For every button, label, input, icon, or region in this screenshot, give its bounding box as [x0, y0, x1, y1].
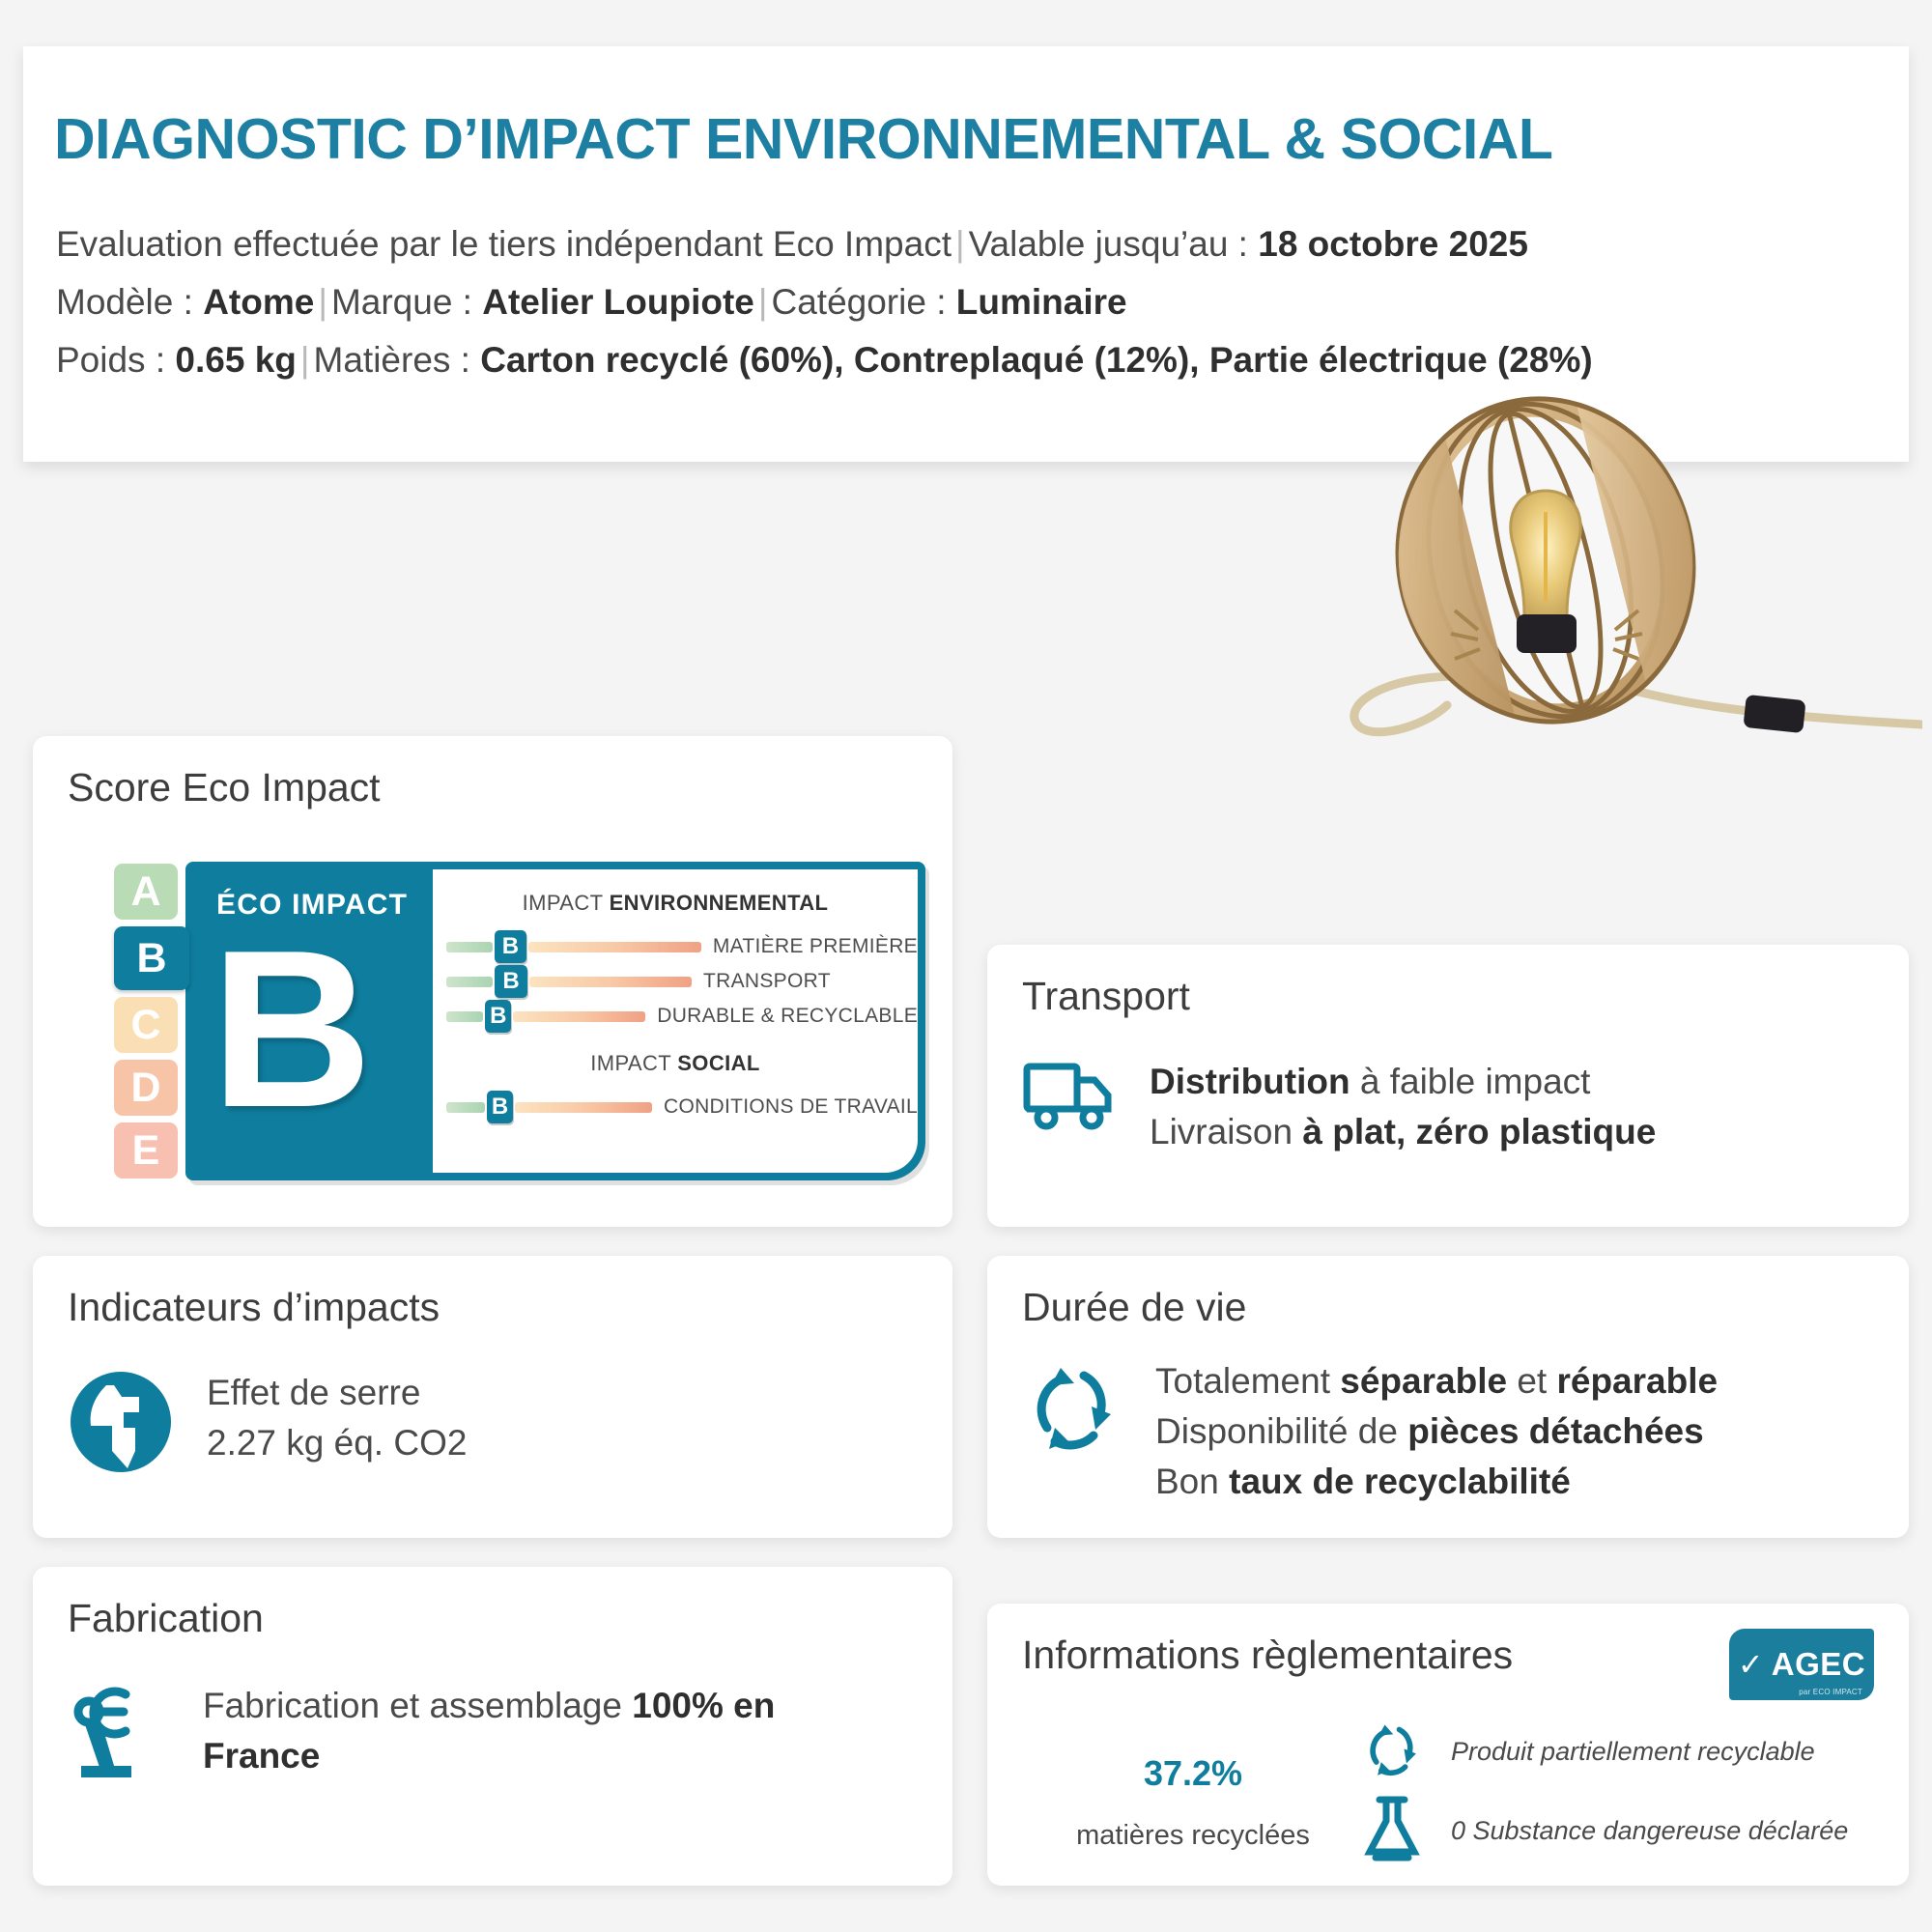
recycle-icon — [1360, 1718, 1424, 1786]
agec-badge: ✓ AGEC par ECO IMPACT — [1729, 1629, 1874, 1700]
globe-icon — [68, 1368, 174, 1481]
recycled-percentage: 37.2% — [1053, 1727, 1333, 1808]
criteria-grade-badge: B — [495, 930, 527, 963]
materials-label: Matières : — [314, 340, 470, 380]
meta-separator: | — [754, 282, 772, 322]
score-bar-high — [513, 1011, 645, 1022]
social-heading: IMPACT SOCIAL — [433, 1051, 918, 1076]
regulatory-row: 0 Substance dangereuse déclarée — [1360, 1791, 1848, 1870]
materials-value: Carton recyclé (60%), Contreplaqué (12%)… — [480, 340, 1592, 380]
grade-chip-a: A — [114, 864, 178, 920]
brand-value: Atelier Loupiote — [482, 282, 754, 322]
score-bar-high — [528, 942, 701, 952]
score-bar-low — [446, 942, 493, 952]
regulatory-card-title: Informations règlementaires — [1022, 1633, 1513, 1678]
criteria-row: B DURABLE & RECYCLABLE — [433, 999, 918, 1034]
page-title: DIAGNOSTIC D’IMPACT ENVIRONNEMENTAL & SO… — [54, 106, 1552, 172]
lifespan-card: Durée de vie Totalement séparable et rép… — [987, 1256, 1909, 1538]
transport-card-body: Distribution à faible impact Livraison à… — [1022, 1057, 1656, 1157]
indicators-card: Indicateurs d’impacts Effet de serre 2.2… — [33, 1256, 952, 1538]
check-icon: ✓ — [1738, 1649, 1764, 1680]
social-criteria-list: B CONDITIONS DE TRAVAIL — [433, 1090, 918, 1124]
criteria-row: B CONDITIONS DE TRAVAIL — [433, 1090, 918, 1124]
criteria-grade-badge: B — [495, 965, 527, 998]
transport-card-text: Distribution à faible impact Livraison à… — [1150, 1057, 1656, 1157]
manufacture-card-title: Fabrication — [68, 1596, 264, 1641]
indicators-card-body: Effet de serre 2.27 kg éq. CO2 — [68, 1368, 467, 1481]
criteria-grade-badge: B — [487, 1091, 514, 1123]
meta-separator: | — [952, 224, 969, 264]
evaluation-prefix: Evaluation effectuée par le tiers indépe… — [56, 224, 952, 264]
lifespan-card-title: Durée de vie — [1022, 1285, 1246, 1330]
model-label: Modèle : — [56, 282, 193, 322]
criteria-panel: IMPACT ENVIRONNEMENTAL B MATIÈRE PREMIÈR… — [433, 869, 918, 1173]
recycled-materials-stat: 37.2% matières recyclées — [1053, 1727, 1333, 1852]
regulatory-row-text: Produit partiellement recyclable — [1451, 1737, 1815, 1767]
score-eco-impact-card: Score Eco Impact A B C D E ÉCO IMPACT B … — [33, 736, 952, 1227]
grade-chip-b: B — [114, 926, 189, 990]
lifespan-card-text: Totalement séparable et réparable Dispon… — [1155, 1356, 1718, 1507]
score-bar-high — [529, 977, 692, 987]
criteria-row: B TRANSPORT — [433, 964, 918, 999]
product-photo — [1188, 386, 1922, 753]
score-bar-high — [515, 1102, 652, 1113]
header-meta: Evaluation effectuée par le tiers indépe… — [56, 215, 1872, 389]
score-bar-low — [446, 1011, 483, 1022]
regulatory-row: Produit partiellement recyclable — [1360, 1712, 1848, 1791]
manufacture-card: Fabrication Fabrication et assemblage 10… — [33, 1567, 952, 1886]
weight-label: Poids : — [56, 340, 165, 380]
criteria-label: CONDITIONS DE TRAVAIL — [664, 1095, 918, 1119]
weight-value: 0.65 kg — [175, 340, 296, 380]
truck-icon — [1022, 1057, 1117, 1137]
indicators-card-title: Indicateurs d’impacts — [68, 1285, 440, 1330]
meta-line-evaluation: Evaluation effectuée par le tiers indépe… — [56, 215, 1872, 273]
agec-badge-subtext: par ECO IMPACT — [1799, 1688, 1862, 1696]
indicators-card-text: Effet de serre 2.27 kg éq. CO2 — [207, 1368, 467, 1468]
manufacture-card-body: Fabrication et assemblage 100% en France — [68, 1681, 775, 1786]
grade-chip-e: E — [114, 1122, 178, 1179]
meta-separator: | — [297, 340, 314, 380]
criteria-row: B MATIÈRE PREMIÈRE — [433, 929, 918, 964]
meta-line-materials: Poids : 0.65 kg|Matières : Carton recycl… — [56, 331, 1872, 389]
regulatory-row-text: 0 Substance dangereuse déclarée — [1451, 1816, 1848, 1846]
eco-impact-label: A B C D E ÉCO IMPACT B IMPACT ENVIRONNEM… — [114, 862, 925, 1180]
recycled-percentage-label: matières recyclées — [1053, 1820, 1333, 1852]
flask-icon — [1360, 1794, 1424, 1868]
agec-badge-label: AGEC — [1772, 1646, 1865, 1683]
lifespan-card-body: Totalement séparable et réparable Dispon… — [1022, 1356, 1718, 1507]
score-bar-low — [446, 1102, 485, 1113]
criteria-label: DURABLE & RECYCLABLE — [657, 1005, 918, 1028]
category-label: Catégorie : — [772, 282, 947, 322]
criteria-label: MATIÈRE PREMIÈRE — [713, 935, 918, 958]
robot-arm-icon — [68, 1681, 170, 1786]
environmental-heading: IMPACT ENVIRONNEMENTAL — [433, 891, 918, 916]
valid-label: Valable jusqu’au : — [969, 224, 1248, 264]
eco-label-grade: B — [211, 918, 373, 1142]
meta-line-product: Modèle : Atome|Marque : Atelier Loupiote… — [56, 273, 1872, 331]
regulatory-rows: Produit partiellement recyclable 0 Subst… — [1360, 1712, 1848, 1870]
transport-card: Transport Distribution à faible impact L… — [987, 945, 1909, 1227]
regulatory-card: Informations règlementaires ✓ AGEC par E… — [987, 1604, 1909, 1886]
manufacture-card-text: Fabrication et assemblage 100% en France — [203, 1681, 775, 1781]
score-bar-low — [446, 977, 493, 987]
category-value: Luminaire — [956, 282, 1127, 322]
brand-label: Marque : — [331, 282, 472, 322]
grade-scale: A B C D E — [114, 864, 184, 1179]
recycle-icon — [1022, 1356, 1122, 1463]
environmental-criteria-list: B MATIÈRE PREMIÈRE B TRANSPORT B — [433, 929, 918, 1034]
meta-separator: | — [314, 282, 331, 322]
criteria-label: TRANSPORT — [703, 970, 831, 993]
transport-card-title: Transport — [1022, 974, 1190, 1019]
grade-chip-c: C — [114, 997, 178, 1053]
valid-value: 18 octobre 2025 — [1258, 224, 1528, 264]
score-card-title: Score Eco Impact — [68, 765, 381, 810]
model-value: Atome — [203, 282, 314, 322]
criteria-grade-badge: B — [485, 1000, 511, 1033]
grade-chip-d: D — [114, 1060, 178, 1116]
eco-label-box: ÉCO IMPACT B IMPACT ENVIRONNEMENTAL B MA… — [185, 862, 925, 1180]
page-root: DIAGNOSTIC D’IMPACT ENVIRONNEMENTAL & SO… — [0, 0, 1932, 1932]
